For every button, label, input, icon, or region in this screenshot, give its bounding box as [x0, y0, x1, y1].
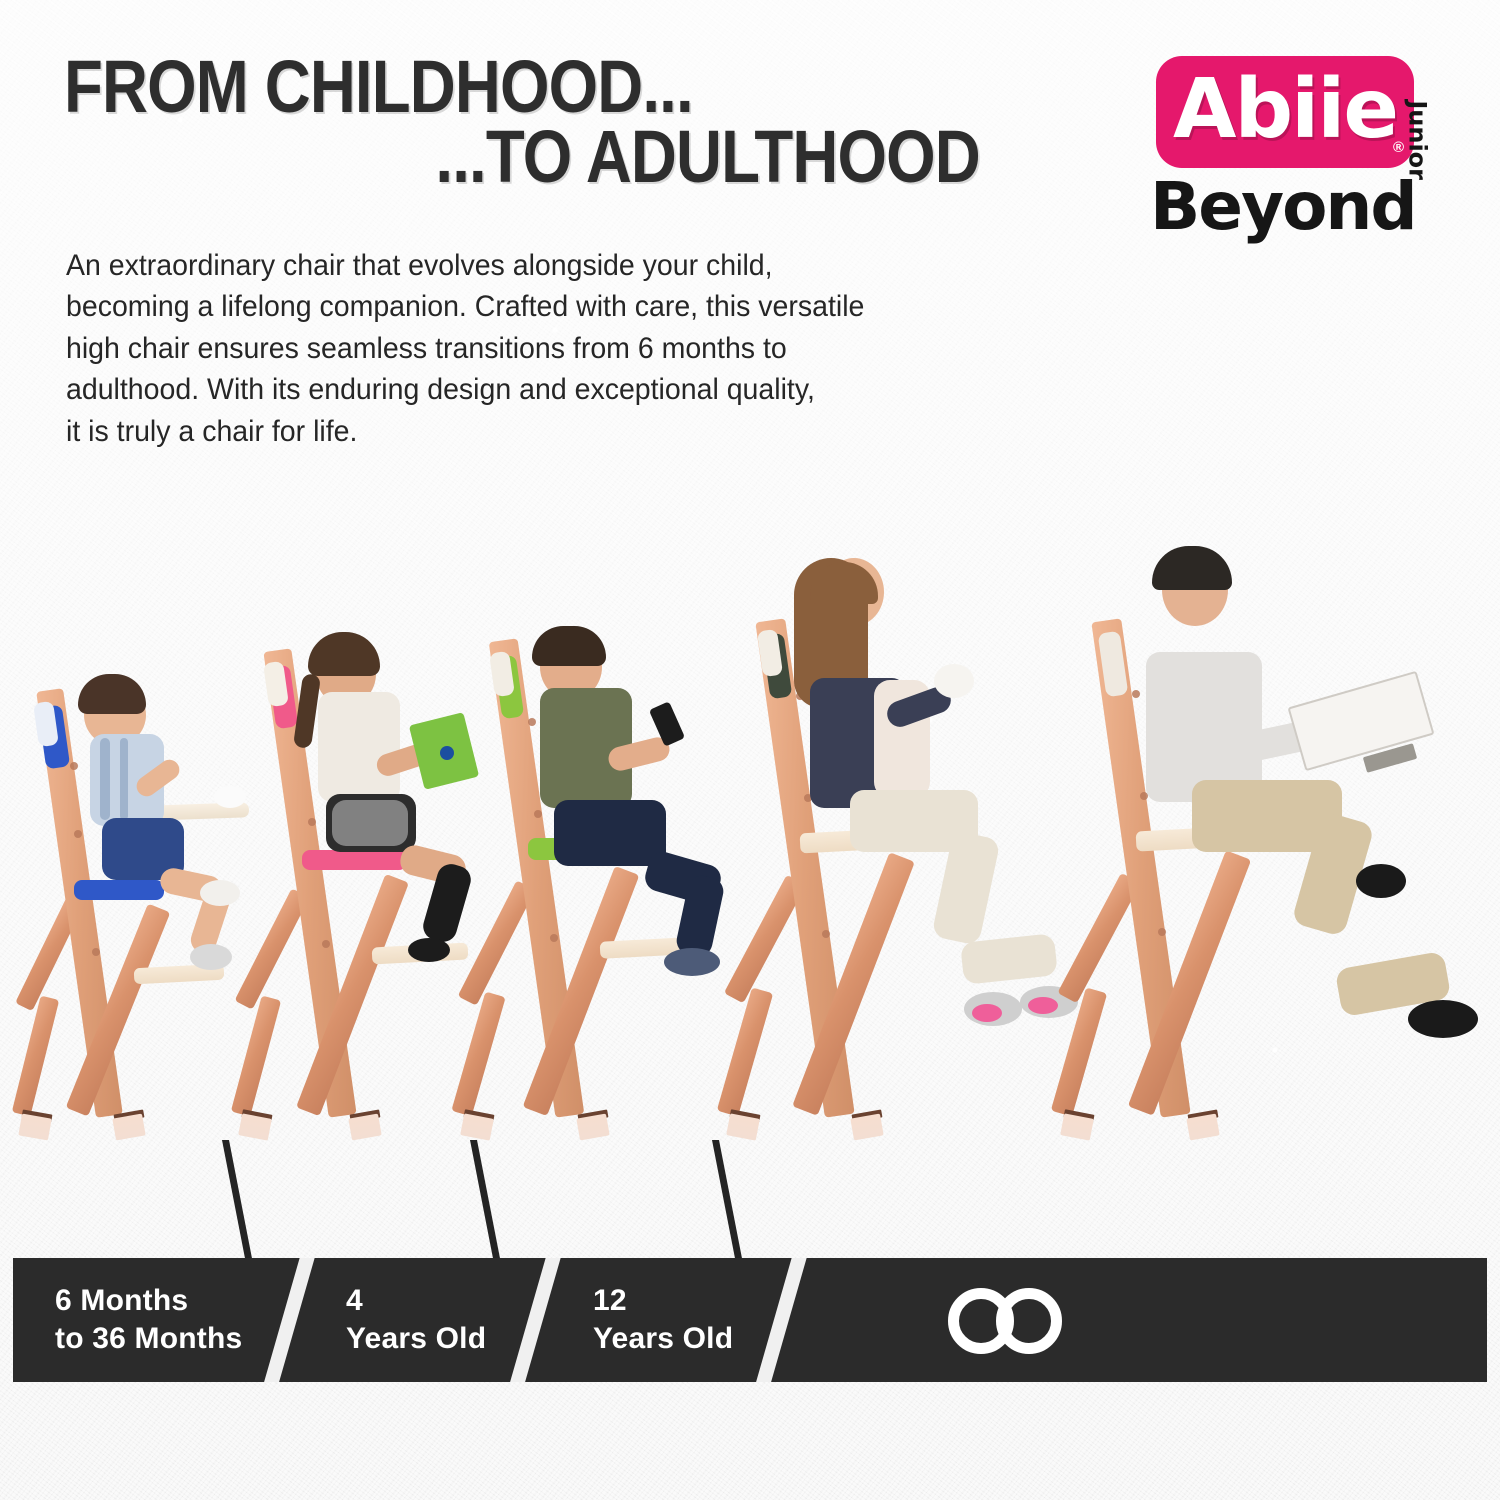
- headline-line-1: FROM CHILDHOOD...: [64, 52, 890, 122]
- registered-mark-icon: ®: [1393, 139, 1404, 156]
- person-adult-woman: [766, 518, 1086, 1138]
- person-toddler: [64, 668, 264, 1138]
- poster-canvas: FROM CHILDHOOD... ...TO ADULTHOOD An ext…: [0, 0, 1500, 1500]
- figure-adult-woman: [726, 518, 1086, 1138]
- connector-line-3: [712, 1140, 744, 1270]
- infinity-icon: [948, 1288, 1098, 1354]
- body-line-3: high chair ensures seamless transitions …: [66, 328, 1026, 369]
- connector-line-1: [222, 1140, 254, 1270]
- timeline-cell-1-line1: 4: [346, 1282, 486, 1320]
- timeline-banner: 6 Months to 36 Months 4 Years Old 12 Yea…: [13, 1258, 1487, 1382]
- timeline-cell-2-line1: 12: [593, 1282, 733, 1320]
- figure-toddler: [14, 668, 264, 1138]
- figure-adult-man: [1058, 518, 1488, 1138]
- timeline-divider-3: [751, 1258, 809, 1382]
- junior-wordmark: Junior: [1404, 100, 1432, 180]
- page-title: FROM CHILDHOOD... ...TO ADULTHOOD: [64, 52, 890, 193]
- timeline-cell-2-line2: Years Old: [593, 1320, 733, 1358]
- timeline-cell-2[interactable]: 12 Years Old: [593, 1258, 733, 1382]
- timeline-divider-2: [505, 1258, 563, 1382]
- brand-logo: Abiie ® Beyond Junior: [1156, 56, 1426, 252]
- body-line-4: adulthood. With its enduring design and …: [66, 369, 1026, 410]
- abiie-wordmark: Abiie: [1173, 69, 1397, 151]
- timeline-cell-0-line1: 6 Months: [55, 1282, 242, 1320]
- abiie-badge: Abiie ®: [1156, 56, 1414, 168]
- timeline-cell-1[interactable]: 4 Years Old: [346, 1258, 486, 1382]
- connector-line-2: [470, 1140, 502, 1270]
- person-adult-man: [1106, 518, 1496, 1138]
- body-copy: An extraordinary chair that evolves alon…: [66, 245, 1026, 452]
- timeline-cell-1-line2: Years Old: [346, 1320, 486, 1358]
- body-line-1: An extraordinary chair that evolves alon…: [66, 245, 1026, 286]
- timeline-cell-0[interactable]: 6 Months to 36 Months: [55, 1258, 242, 1382]
- body-line-5: it is truly a chair for life.: [66, 411, 1026, 452]
- product-lifestyle-scene: [0, 470, 1500, 1130]
- body-line-2: becoming a lifelong companion. Crafted w…: [66, 286, 1026, 327]
- timeline-divider-1: [259, 1258, 317, 1382]
- beyond-wordmark: Beyond: [1150, 174, 1416, 240]
- timeline-cell-0-line2: to 36 Months: [55, 1320, 242, 1358]
- product-line-row: Beyond Junior: [1156, 174, 1426, 252]
- headline-line-2: ...TO ADULTHOOD: [64, 122, 980, 192]
